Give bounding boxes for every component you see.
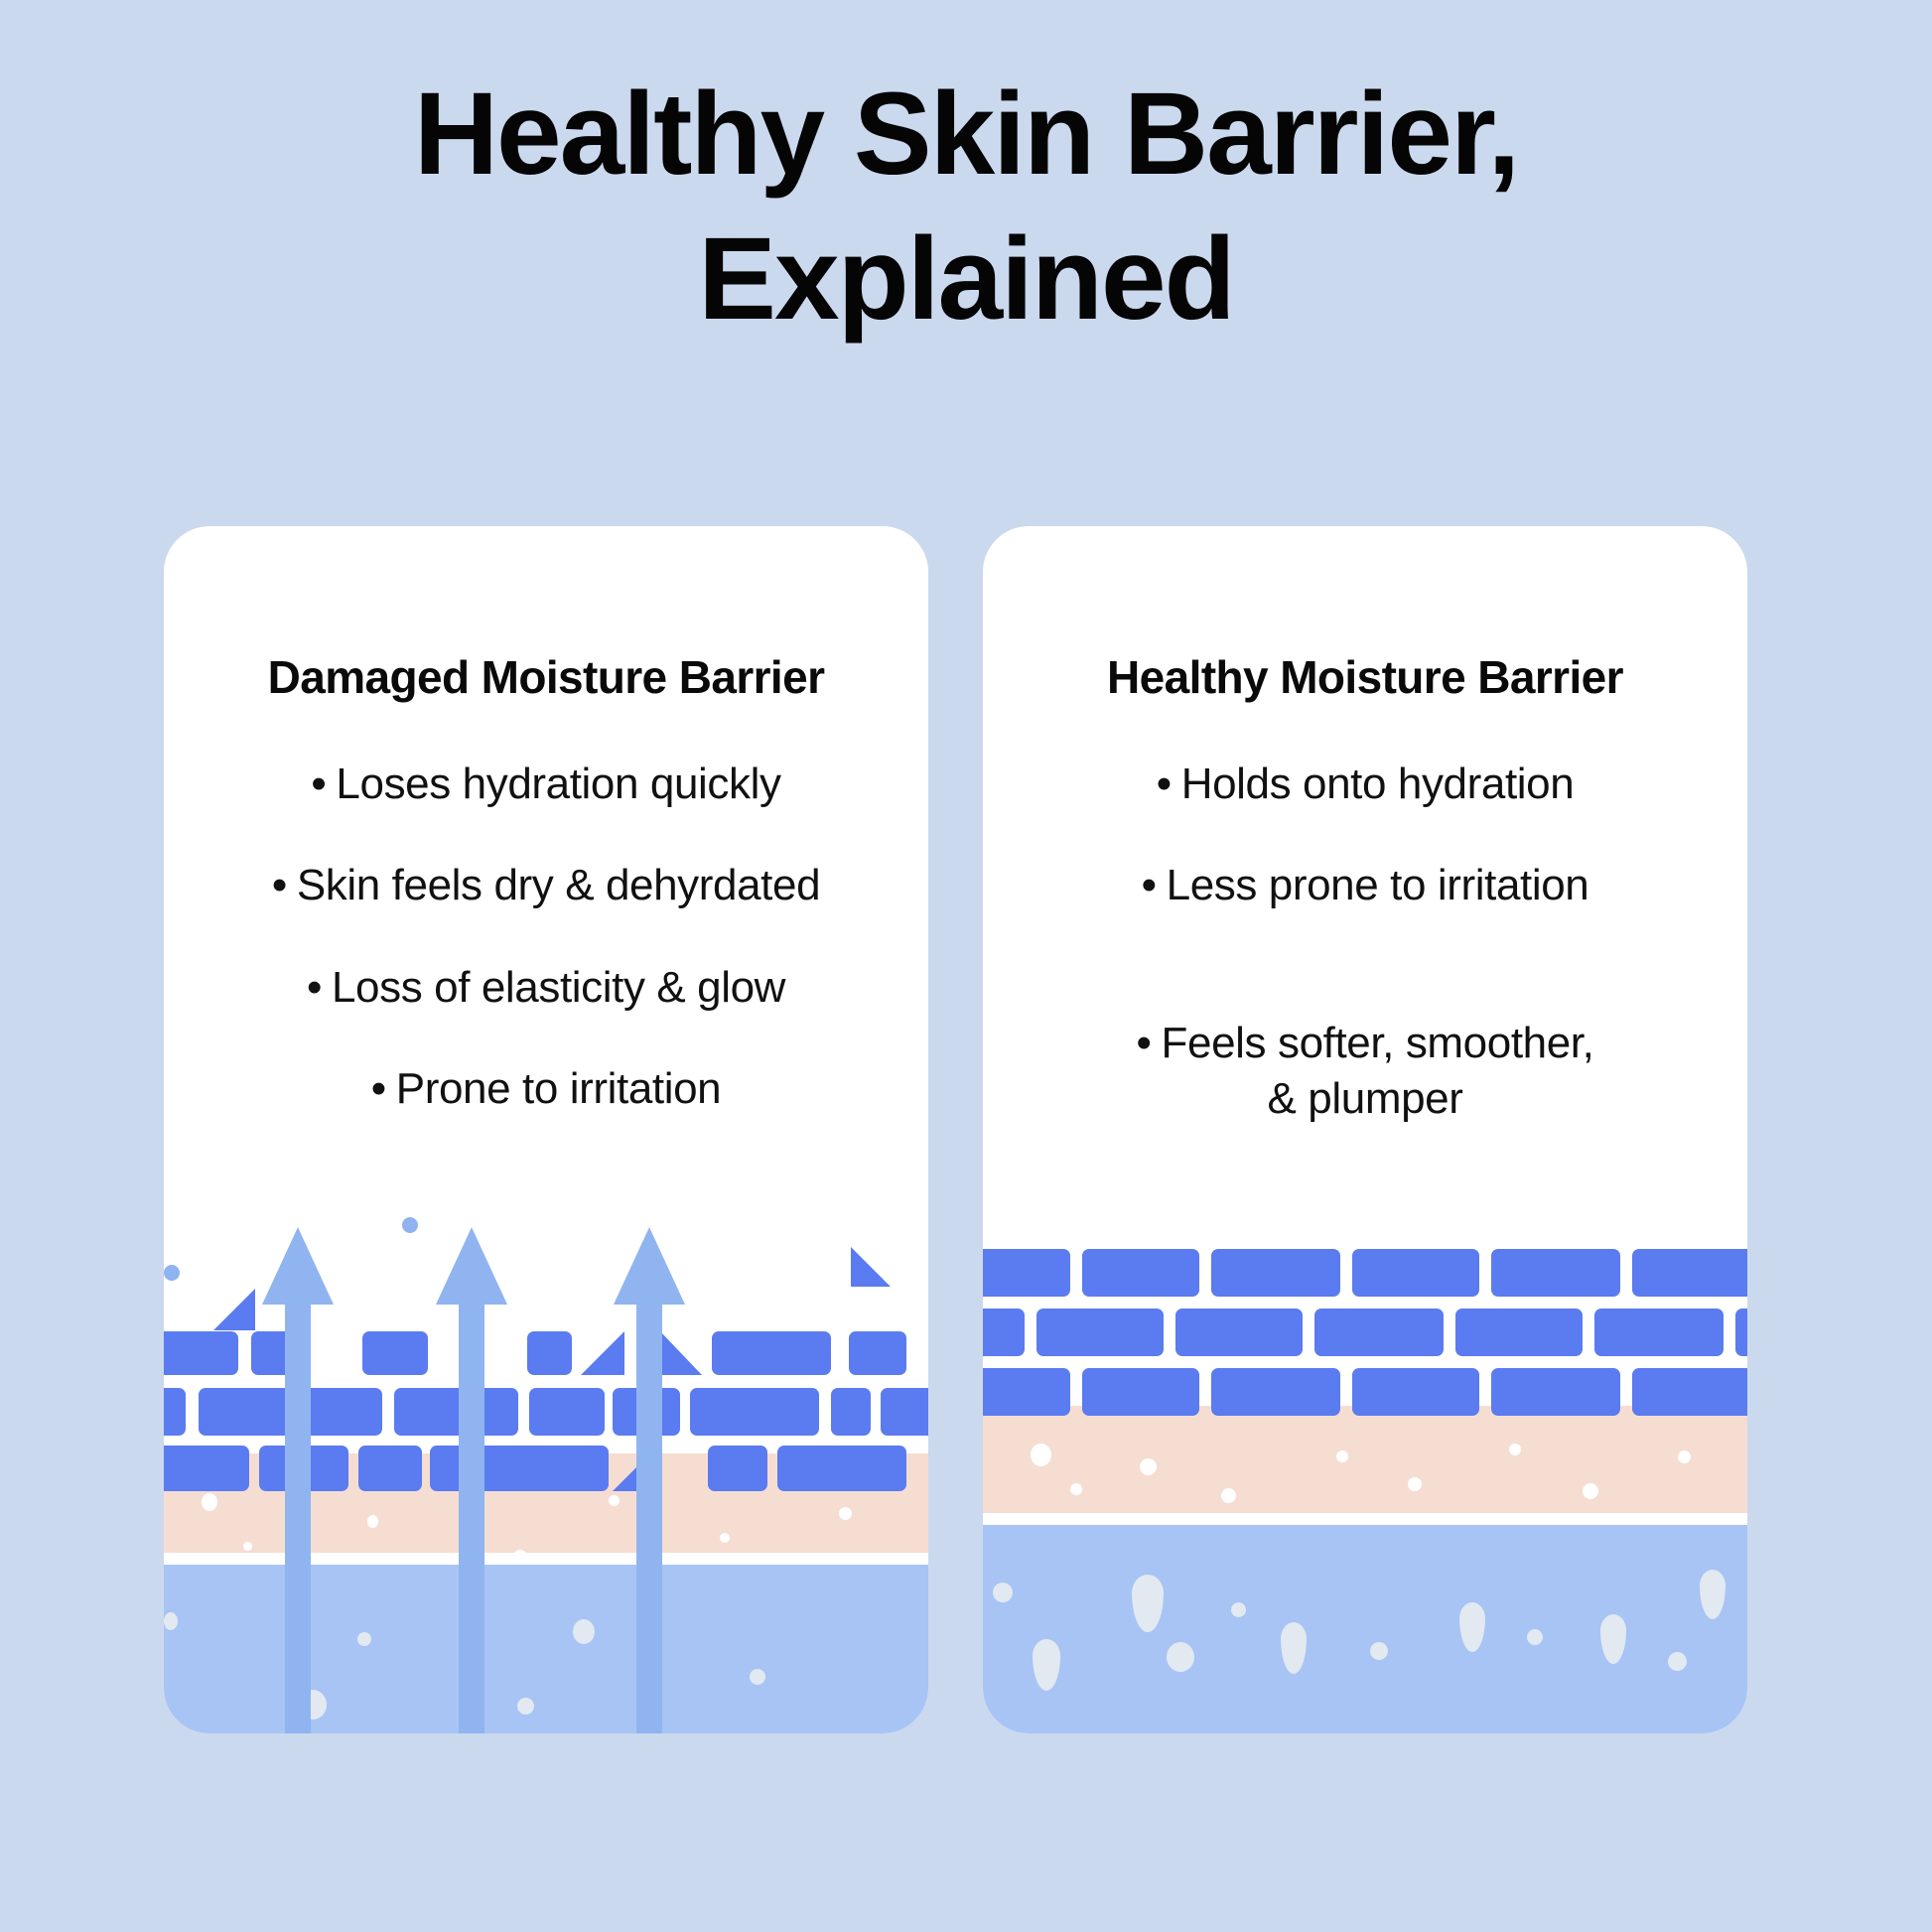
page-title-line-2: Explained xyxy=(0,207,1932,351)
moisture-loss-arrow-head-icon xyxy=(436,1227,507,1305)
moisture-speck xyxy=(750,1669,765,1685)
moisture-speck xyxy=(1408,1477,1422,1491)
brick-fragment xyxy=(213,1289,255,1330)
page-title-line-1: Healthy Skin Barrier, xyxy=(0,62,1932,207)
bullet-dot-icon: • xyxy=(311,757,326,812)
bullet-dot-icon: • xyxy=(307,960,322,1016)
brick xyxy=(831,1388,871,1436)
moisture-loss-arrow-shaft xyxy=(636,1295,662,1733)
brick-fragment xyxy=(660,1331,702,1375)
moisture-speck xyxy=(202,1493,217,1511)
brick xyxy=(1082,1368,1199,1416)
brick xyxy=(430,1446,609,1491)
brick xyxy=(1594,1309,1724,1356)
brick xyxy=(690,1388,819,1436)
moisture-speck xyxy=(1221,1488,1236,1503)
brick xyxy=(362,1331,428,1375)
moisture-speck xyxy=(1336,1450,1348,1462)
water-reservoir-layer xyxy=(164,1565,928,1733)
moisture-speck xyxy=(1678,1450,1691,1463)
bullet-dot-icon: • xyxy=(272,858,287,913)
brick xyxy=(1455,1309,1583,1356)
brick xyxy=(1211,1368,1340,1416)
card-healthy-bullet-list: •Holds onto hydration •Less prone to irr… xyxy=(1007,757,1724,1173)
brick xyxy=(708,1446,767,1491)
brick xyxy=(394,1388,518,1436)
moisture-speck xyxy=(993,1583,1013,1602)
list-item: •Feels softer, smoother, & plumper xyxy=(1007,960,1724,1128)
moisture-speck xyxy=(573,1619,595,1644)
brick-dust-dot xyxy=(164,1265,180,1281)
brick xyxy=(1735,1309,1747,1356)
bullet-dot-icon: • xyxy=(1142,858,1157,913)
brick xyxy=(1632,1368,1747,1416)
brick xyxy=(527,1331,572,1375)
moisture-speck xyxy=(1370,1642,1388,1660)
brick xyxy=(1082,1249,1199,1297)
moisture-speck xyxy=(1140,1458,1157,1475)
water-reservoir-layer xyxy=(983,1525,1747,1733)
brick xyxy=(1211,1249,1340,1297)
brick xyxy=(1352,1249,1479,1297)
list-item: •Skin feels dry & dehyrdated xyxy=(188,858,904,913)
moisture-loss-arrow-shaft xyxy=(285,1295,311,1733)
moisture-loss-arrow-head-icon xyxy=(614,1227,685,1305)
moisture-speck xyxy=(367,1515,378,1528)
brick xyxy=(1491,1368,1620,1416)
brick-dust-dot xyxy=(402,1217,418,1233)
moisture-speck xyxy=(839,1507,852,1520)
list-item-label: Less prone to irritation xyxy=(1167,861,1589,909)
list-item: •Holds onto hydration xyxy=(1007,757,1724,812)
brick xyxy=(1632,1249,1747,1297)
card-damaged-bullet-list: •Loses hydration quickly •Skin feels dry… xyxy=(188,757,904,1163)
moisture-speck xyxy=(1583,1483,1598,1499)
moisture-speck xyxy=(357,1632,371,1646)
list-item-label: Loses hydration quickly xyxy=(336,759,780,808)
moisture-speck xyxy=(513,1550,527,1564)
moisture-loss-arrow-head-icon xyxy=(262,1227,334,1305)
brick xyxy=(1491,1249,1620,1297)
moisture-speck xyxy=(609,1495,620,1506)
brick xyxy=(881,1388,928,1436)
card-damaged-moisture-barrier: Damaged Moisture Barrier •Loses hydratio… xyxy=(164,526,928,1733)
brick xyxy=(712,1331,831,1375)
moisture-speck xyxy=(720,1533,730,1543)
list-item-label: Skin feels dry & dehyrdated xyxy=(297,861,820,909)
brick xyxy=(849,1331,906,1375)
dermis-layer xyxy=(983,1406,1747,1513)
brick xyxy=(983,1249,1070,1297)
moisture-speck xyxy=(1668,1652,1687,1671)
page-title: Healthy Skin Barrier, Explained xyxy=(0,62,1932,352)
list-item-label: Loss of elasticity & glow xyxy=(332,963,785,1012)
list-item: •Loss of elasticity & glow xyxy=(188,960,904,1016)
card-healthy-heading: Healthy Moisture Barrier xyxy=(983,650,1747,704)
brick xyxy=(1314,1309,1444,1356)
brick xyxy=(1175,1309,1303,1356)
brick-fragment xyxy=(581,1331,624,1375)
brick xyxy=(1036,1309,1164,1356)
moisture-speck xyxy=(1231,1602,1246,1617)
damaged-skin-barrier-diagram xyxy=(164,1217,928,1733)
list-item-label: Holds onto hydration xyxy=(1181,759,1575,808)
brick xyxy=(529,1388,605,1436)
healthy-skin-barrier-diagram xyxy=(983,1217,1747,1733)
list-item-label: Prone to irritation xyxy=(396,1064,721,1113)
bullet-dot-icon: • xyxy=(1137,1016,1152,1071)
moisture-speck xyxy=(1031,1444,1051,1466)
moisture-speck xyxy=(1527,1629,1543,1645)
moisture-speck xyxy=(243,1542,252,1551)
moisture-speck xyxy=(1509,1444,1521,1455)
moisture-speck xyxy=(517,1698,534,1715)
brick xyxy=(983,1309,1025,1356)
brick-fragment xyxy=(851,1247,891,1287)
list-item: •Loses hydration quickly xyxy=(188,757,904,812)
brick xyxy=(164,1331,238,1375)
moisture-loss-arrow-shaft xyxy=(459,1295,484,1733)
list-item: •Less prone to irritation xyxy=(1007,858,1724,913)
list-item: •Prone to irritation xyxy=(188,1061,904,1117)
moisture-speck xyxy=(1070,1483,1082,1495)
brick xyxy=(358,1446,422,1491)
brick xyxy=(164,1388,186,1436)
moisture-speck xyxy=(1167,1642,1194,1672)
brick xyxy=(777,1446,906,1491)
list-item-label: Feels softer, smoother, & plumper xyxy=(1162,1019,1594,1123)
brick xyxy=(1352,1368,1479,1416)
bullet-dot-icon: • xyxy=(371,1061,386,1117)
brick xyxy=(164,1446,249,1491)
moisture-speck xyxy=(164,1612,178,1630)
card-healthy-moisture-barrier: Healthy Moisture Barrier •Holds onto hyd… xyxy=(983,526,1747,1733)
brick xyxy=(983,1368,1070,1416)
card-damaged-heading: Damaged Moisture Barrier xyxy=(164,650,928,704)
bullet-dot-icon: • xyxy=(1157,757,1172,812)
